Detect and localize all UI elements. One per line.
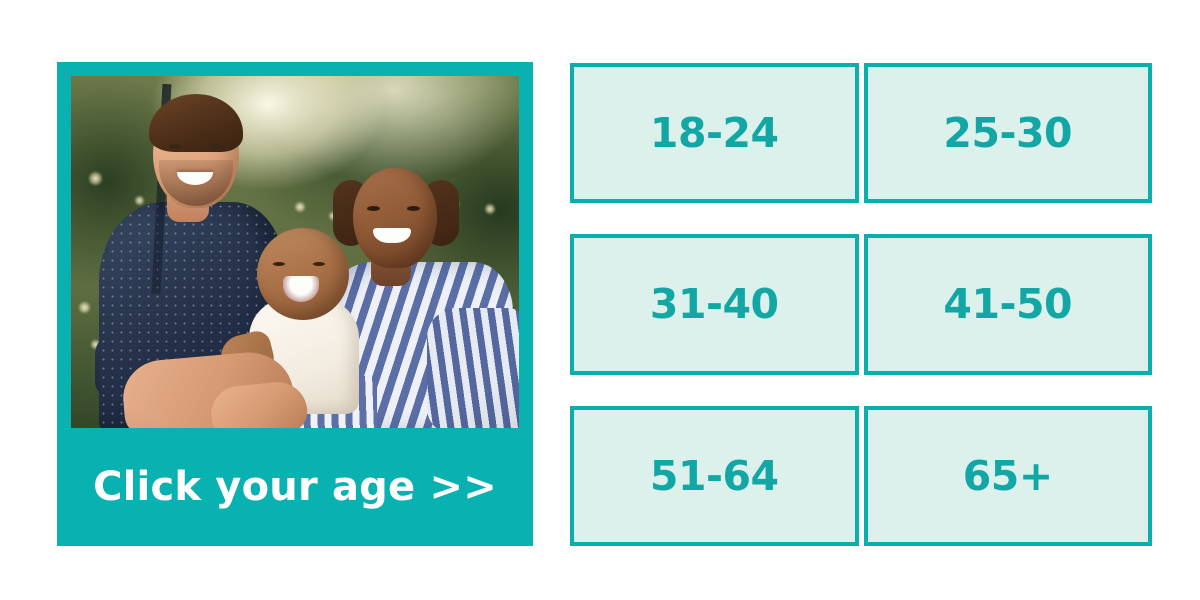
bokeh-light xyxy=(485,204,495,214)
bokeh-light xyxy=(135,196,144,205)
age-button-65-plus[interactable]: 65+ xyxy=(864,406,1153,546)
age-button-label: 41-50 xyxy=(943,280,1072,328)
age-button-label: 31-40 xyxy=(650,280,779,328)
advertisement-banner: Click your age >> 18-24 25-30 31-40 41-5… xyxy=(0,0,1200,600)
age-button-label: 65+ xyxy=(963,452,1053,500)
bokeh-light xyxy=(89,172,102,185)
woman-eye-left xyxy=(367,206,380,211)
woman-eye-right xyxy=(407,206,420,211)
age-button-31-40[interactable]: 31-40 xyxy=(570,234,859,374)
age-button-label: 51-64 xyxy=(650,452,779,500)
baby-eye-right xyxy=(313,262,325,266)
baby-head xyxy=(257,228,349,320)
promo-card[interactable]: Click your age >> xyxy=(57,62,533,546)
woman-head xyxy=(353,168,437,268)
age-selector-grid: 18-24 25-30 31-40 41-50 51-64 65+ xyxy=(570,63,1152,546)
family-photo xyxy=(71,76,519,428)
bokeh-light xyxy=(79,302,90,313)
age-button-label: 25-30 xyxy=(943,109,1072,157)
woman-sleeve xyxy=(427,308,519,428)
cta-label: Click your age >> xyxy=(93,464,497,510)
baby-eye-left xyxy=(273,262,285,266)
bokeh-light xyxy=(295,202,305,212)
age-button-51-64[interactable]: 51-64 xyxy=(570,406,859,546)
age-button-25-30[interactable]: 25-30 xyxy=(864,63,1153,203)
age-button-label: 18-24 xyxy=(650,109,779,157)
cta-banner[interactable]: Click your age >> xyxy=(57,428,533,546)
age-button-18-24[interactable]: 18-24 xyxy=(570,63,859,203)
man-eye-right xyxy=(209,144,222,149)
man-eye-left xyxy=(169,144,182,149)
age-button-41-50[interactable]: 41-50 xyxy=(864,234,1153,374)
